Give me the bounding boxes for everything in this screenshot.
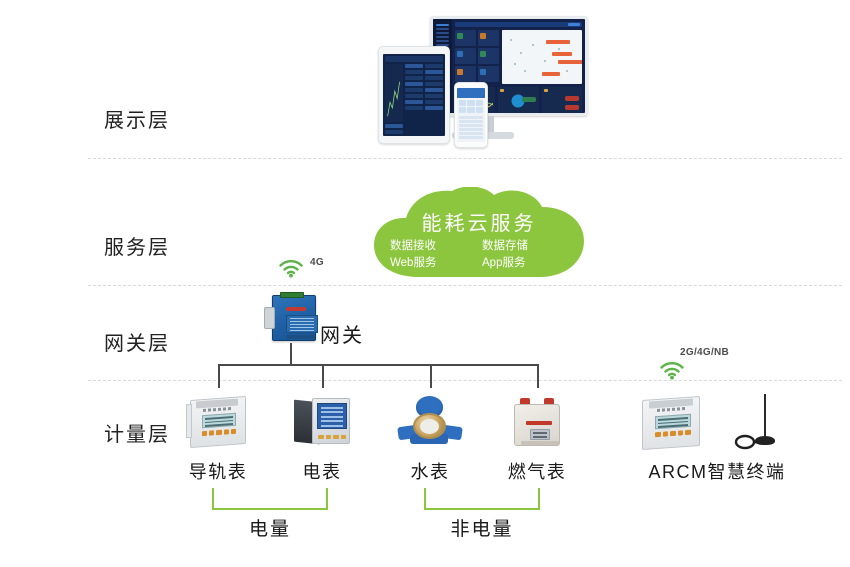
gas-meter-label: 燃气表 xyxy=(494,458,580,484)
layer-separator-gateway-metering xyxy=(88,380,842,381)
tablet-chart-left xyxy=(385,64,403,122)
group-label-non-electric: 非电量 xyxy=(424,514,540,541)
monitor-map-panel xyxy=(502,30,582,84)
display-layer-devices xyxy=(378,14,588,152)
layer-separator-display-service xyxy=(88,158,842,159)
water-meter-label: 水表 xyxy=(387,458,473,484)
cloud-service-item-data-storage: 数据存储 xyxy=(482,237,568,253)
gateway-brand-stripe xyxy=(286,307,306,311)
gateway-body xyxy=(272,295,316,341)
layer-label-metering: 计量层 xyxy=(104,418,170,447)
cloud-title: 能耗云服务 xyxy=(368,207,590,236)
wifi-icon xyxy=(277,256,305,278)
monitor-topbar xyxy=(455,22,582,27)
cloud-service-node: 能耗云服务 数据接收 数据存储 Web服务 App服务 xyxy=(368,187,590,279)
device-arcm-terminal: ARCM智慧终端 xyxy=(638,392,796,484)
layer-label-service: 服务层 xyxy=(104,231,170,260)
bracket-electric-group xyxy=(212,488,328,510)
wire-branch-gas xyxy=(537,364,539,388)
phone-screen xyxy=(457,88,485,142)
device-gas-meter: 燃气表 xyxy=(494,392,580,484)
wire-branch-electric xyxy=(322,364,324,388)
device-electric-meter: 电表 xyxy=(279,392,365,484)
monitor-gauge-panel xyxy=(498,87,538,113)
cloud-service-list: 数据接收 数据存储 Web服务 App服务 xyxy=(390,237,568,270)
din-rail-meter-art xyxy=(175,392,261,454)
group-label-electric: 电量 xyxy=(212,514,328,541)
phone-list xyxy=(457,115,485,141)
wire-branch-water xyxy=(430,364,432,388)
arcm-network-label: 2G/4G/NB xyxy=(680,347,729,358)
gateway-terminal-block xyxy=(280,292,304,298)
wire-metering-bus xyxy=(218,364,538,366)
cloud-service-item-app: App服务 xyxy=(482,254,568,270)
arcm-terminal-art xyxy=(638,392,796,454)
antenna-art xyxy=(734,394,788,452)
tablet-device xyxy=(378,46,450,144)
wire-branch-din-rail xyxy=(218,364,220,388)
smartphone-device xyxy=(454,82,488,148)
cloud-service-item-data-receive: 数据接收 xyxy=(390,237,476,253)
bracket-non-electric-group xyxy=(424,488,540,510)
phone-tile-grid xyxy=(457,98,485,115)
gateway-serial-connector xyxy=(264,307,275,329)
device-water-meter: 水表 xyxy=(387,392,473,484)
wire-gateway-drop xyxy=(290,343,292,365)
architecture-diagram: 展示层 服务层 网关层 计量层 xyxy=(0,0,850,567)
gateway-label-strip xyxy=(287,335,315,339)
electric-meter-label: 电表 xyxy=(279,458,365,484)
gas-meter-art xyxy=(494,392,580,454)
gateway-network-label: 4G xyxy=(310,257,324,268)
layer-label-display: 展示层 xyxy=(104,104,170,133)
arcm-terminal-label: ARCM智慧终端 xyxy=(638,458,796,484)
cloud-service-item-web: Web服务 xyxy=(390,254,476,270)
monitor-main-row xyxy=(455,30,582,84)
wifi-icon xyxy=(658,358,686,380)
tablet-screen xyxy=(383,54,445,136)
layer-label-gateway: 网关层 xyxy=(104,327,170,356)
device-din-rail-meter: 导轨表 xyxy=(175,392,261,484)
gateway-label: 网关 xyxy=(320,319,364,348)
monitor-status-cards xyxy=(455,30,499,84)
water-meter-art xyxy=(387,392,473,454)
monitor-alarm-panel xyxy=(542,87,582,113)
gateway-led-panel xyxy=(286,315,318,333)
phone-app-header xyxy=(457,88,485,98)
electric-meter-art xyxy=(279,392,365,454)
gateway-device xyxy=(264,291,316,343)
layer-separator-service-gateway xyxy=(88,285,842,286)
din-rail-meter-label: 导轨表 xyxy=(175,458,261,484)
